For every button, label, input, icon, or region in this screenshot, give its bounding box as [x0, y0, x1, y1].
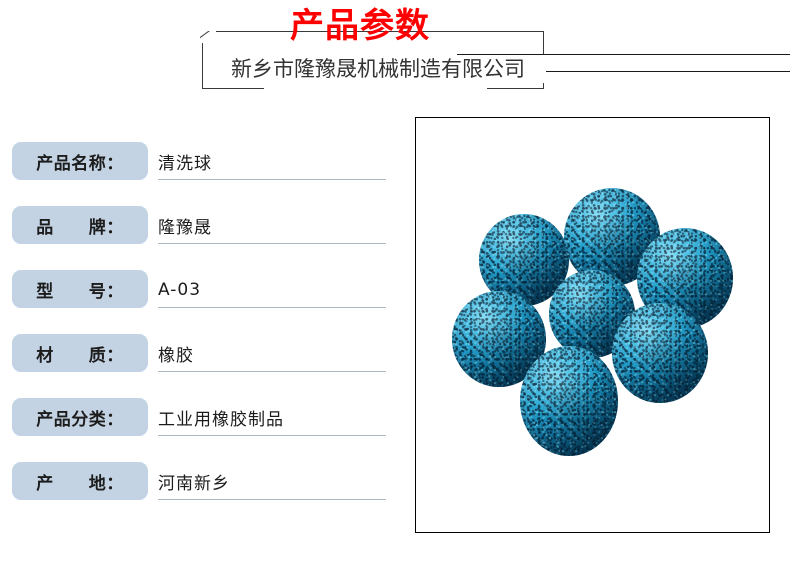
rubber-ball: [612, 303, 708, 403]
banner-bracket-left: [202, 43, 203, 88]
spec-label-pill: 型 号：: [12, 270, 148, 308]
spec-label: 型 号：: [36, 277, 124, 302]
spec-value-field: 工业用橡胶制品: [158, 400, 386, 436]
page-title: 产品参数: [0, 6, 790, 46]
spec-value: 工业用橡胶制品: [158, 405, 284, 430]
spec-row: 产品分类： 工业用橡胶制品: [0, 390, 400, 454]
spec-row: 产 地： 河南新乡: [0, 454, 400, 518]
banner-bracket-bottom-left: [202, 88, 264, 89]
spec-value-field: 橡胶: [158, 336, 386, 372]
spec-value: A-03: [158, 280, 201, 300]
spec-value-field: A-03: [158, 272, 386, 308]
spec-row: 产品名称： 清洗球: [0, 134, 400, 198]
spec-value: 清洗球: [158, 149, 212, 174]
spec-label: 材 质：: [36, 341, 124, 366]
spec-label: 产品分类：: [36, 405, 124, 430]
spec-label-pill: 产品分类：: [12, 398, 148, 436]
spec-row: 品 牌： 隆豫晟: [0, 198, 400, 262]
spec-value: 隆豫晟: [158, 213, 212, 238]
product-photo: [416, 118, 769, 532]
banner-bracket-bottom-right: [487, 88, 544, 89]
spec-label-pill: 材 质：: [12, 334, 148, 372]
page-header: 产品参数 新乡市隆豫晟机械制造有限公司: [0, 0, 790, 110]
banner-rail-bottom: [543, 71, 790, 72]
product-photo-frame: [415, 117, 770, 533]
spec-label-pill: 产 地：: [12, 462, 148, 500]
spec-value-field: 清洗球: [158, 144, 386, 180]
spec-label: 产 地：: [36, 469, 124, 494]
spec-label-pill: 品 牌：: [12, 206, 148, 244]
spec-row: 材 质： 橡胶: [0, 326, 400, 390]
company-name: 新乡市隆豫晟机械制造有限公司: [210, 55, 546, 83]
spec-value-field: 隆豫晟: [158, 208, 386, 244]
spec-value: 橡胶: [158, 341, 194, 366]
spec-label-pill: 产品名称：: [12, 142, 148, 180]
spec-value: 河南新乡: [158, 469, 230, 494]
product-spec-list: 产品名称： 清洗球 品 牌： 隆豫晟 型 号： A-03 材 质： 橡胶 产品分…: [0, 134, 400, 518]
spec-value-field: 河南新乡: [158, 464, 386, 500]
spec-label: 产品名称：: [36, 149, 124, 174]
spec-row: 型 号： A-03: [0, 262, 400, 326]
rubber-ball: [520, 346, 618, 456]
banner-rail-top: [543, 54, 790, 55]
spec-label: 品 牌：: [36, 213, 124, 238]
